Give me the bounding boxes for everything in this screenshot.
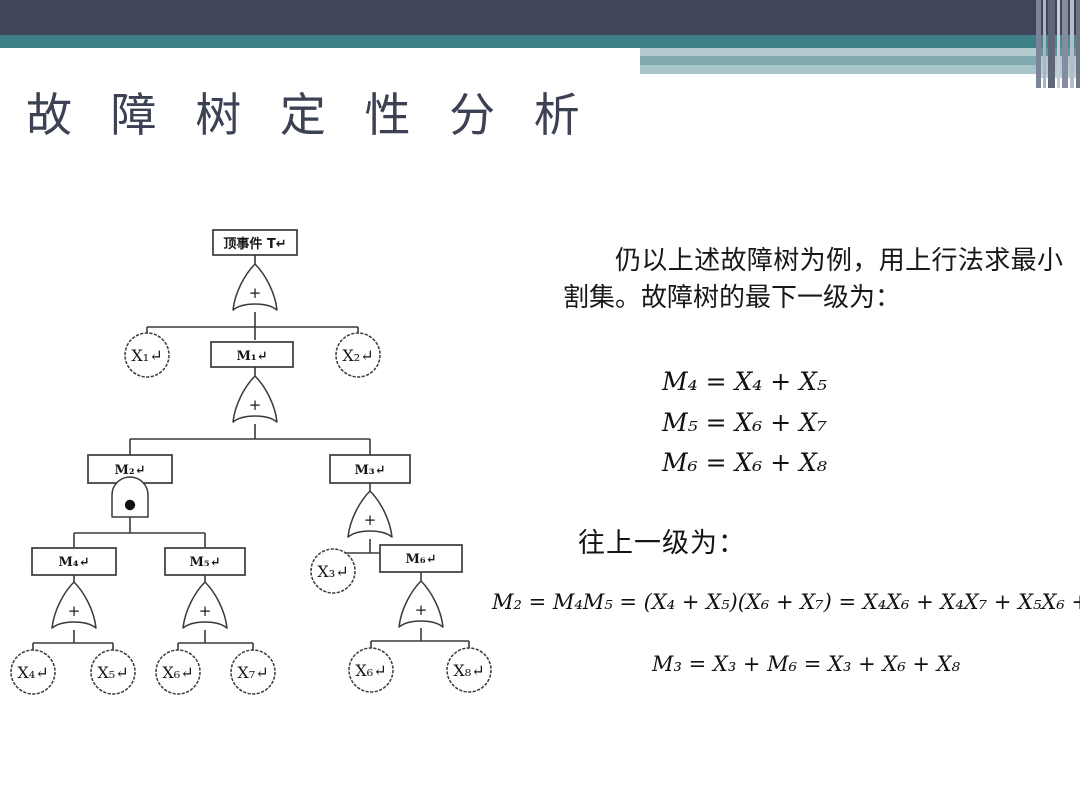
corner-stripe-7 [1076,0,1080,88]
basic-event-x4-label: X₄↵ [17,663,48,682]
equation-m6: M₆ = X₆ + X₈ [662,443,827,484]
slide-canvas: 故 障 树 定 性 分 析 [0,0,1080,810]
body-subheading: 往上一级为： [578,521,746,560]
box-m3-label: M₃↵ [355,463,386,478]
or-gate-m6: + [399,581,443,627]
svg-text:+: + [249,396,262,414]
basic-event-x8-label: X₈↵ [453,661,484,680]
basic-event-x6-b-label: X₆↵ [355,661,386,680]
box-m4-label: M₄↵ [59,555,90,570]
box-m5-label: M₅↵ [190,555,221,570]
basic-event-x2-label: X₂↵ [342,346,373,365]
fault-tree-diagram: 顶事件 T↵ M₁↵ M₂↵ M₃↵ M₄↵ M₅↵ M₆↵ + [0,215,520,735]
equation-m4: M₄ = X₄ + X₅ [662,362,827,403]
basic-event-x3: X₃↵ [311,549,355,593]
header-notch-1 [0,48,640,56]
svg-text:+: + [415,601,428,619]
basic-event-x7-label: X₇↵ [237,663,268,682]
svg-text:+: + [199,602,212,620]
or-gate-m5: + [183,582,227,628]
header-chip-pale [640,65,870,74]
svg-text:+: + [249,284,262,302]
or-gate-m3: + [348,491,392,537]
basic-event-x1-label: X₁↵ [131,346,162,365]
page-title: 故 障 树 定 性 分 析 [26,92,592,138]
corner-stripe-6 [1070,0,1074,88]
corner-stripe-5 [1062,0,1068,88]
basic-event-x2: X₂↵ [336,333,380,377]
box-m2-label: M₂↵ [115,463,146,478]
basic-event-x6-a-label: X₆↵ [162,663,193,682]
corner-stripe-1 [1036,0,1041,88]
and-gate-m2 [112,477,148,517]
svg-text:+: + [68,602,81,620]
equation-m3: M₃ = X₃ + M₆ = X₃ + X₆ + X₈ [652,652,960,676]
header-chip-teal [640,56,1080,65]
basic-event-x8: X₈↵ [447,648,491,692]
svg-text:+: + [364,511,377,529]
or-gate-m4: + [52,582,96,628]
box-m6-label: M₆↵ [406,552,437,567]
corner-stripe-4 [1057,0,1060,88]
or-gate-m1: + [233,376,277,422]
box-top-event-label: 顶事件 T↵ [223,236,286,252]
corner-stripe-2 [1043,0,1046,88]
box-m1-label: M₁↵ [237,349,268,364]
header-notch-4 [0,74,1080,88]
basic-event-x7: X₇↵ [231,650,275,694]
basic-event-x5: X₅↵ [91,650,135,694]
basic-event-x6-b: X₆↵ [349,648,393,692]
header-band-dark [0,0,1080,35]
corner-stripe-3 [1048,0,1055,88]
equation-m2: M₂ = M₄M₅ = (X₄ + X₅)(X₆ + X₇) = X₄X₆ + … [492,590,1080,614]
basic-event-x3-label: X₃↵ [317,562,348,581]
basic-event-x5-label: X₅↵ [97,663,128,682]
body-paragraph: 仍以上述故障树为例，用上行法求最小割集。故障树的最下一级为： [563,243,1063,317]
equation-m5: M₅ = X₆ + X₇ [662,403,827,444]
header-band-teal [0,35,1080,48]
equation-group-level1: M₄ = X₄ + X₅ M₅ = X₆ + X₇ M₆ = X₆ + X₈ [662,362,827,484]
basic-event-x1: X₁↵ [125,333,169,377]
or-gate-top: + [233,264,277,310]
basic-event-x4: X₄↵ [11,650,55,694]
basic-event-x6-a: X₆↵ [156,650,200,694]
